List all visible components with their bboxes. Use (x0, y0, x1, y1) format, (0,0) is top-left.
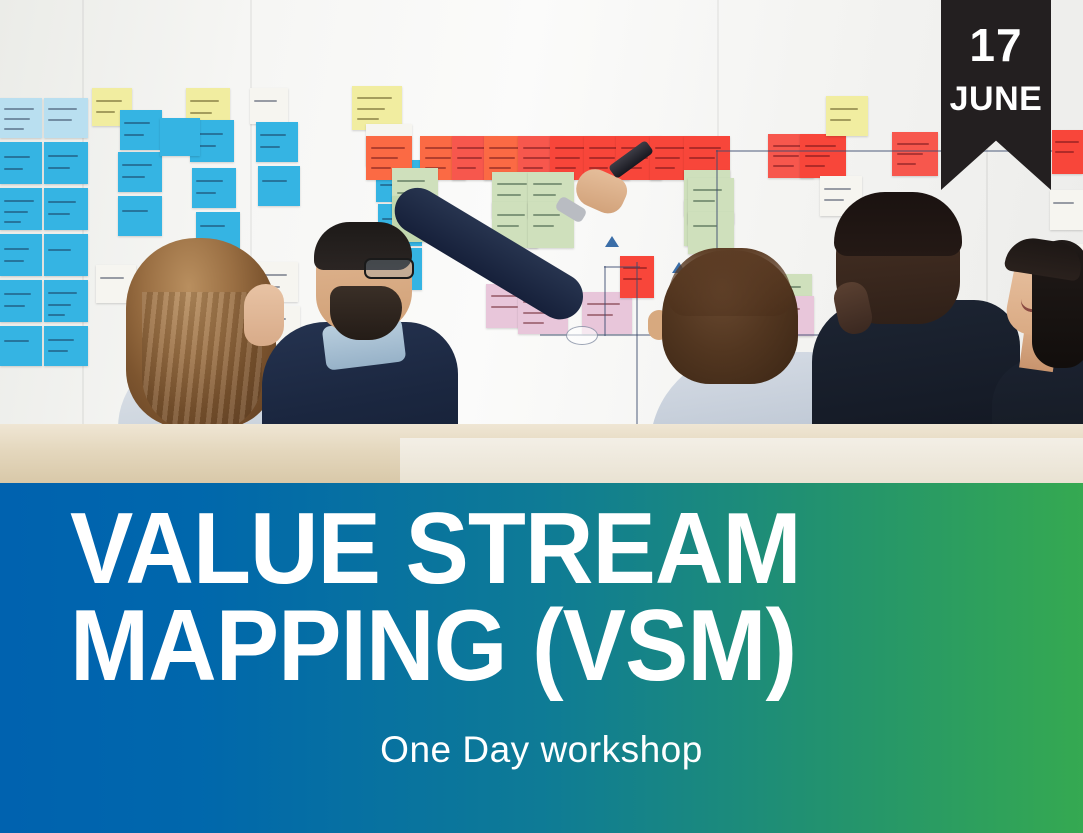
sticky-note (0, 188, 42, 230)
title-line-2: MAPPING (VSM) (70, 598, 982, 695)
sticky-note (256, 122, 298, 162)
sticky-note (192, 168, 236, 208)
ribbon-month: JUNE (941, 82, 1051, 116)
sticky-note (44, 142, 88, 184)
flow-line (604, 266, 606, 336)
sticky-note (118, 152, 162, 192)
sticky-note (258, 166, 300, 206)
sticky-note (0, 326, 42, 366)
sticky-note (0, 234, 42, 276)
sticky-note (0, 280, 42, 322)
sticky-note (0, 98, 42, 138)
page-title: VALUE STREAM MAPPING (VSM) (70, 501, 982, 695)
sticky-note (250, 88, 288, 124)
sticky-note (44, 326, 88, 366)
desk-surface (400, 438, 1083, 484)
flow-line (604, 266, 640, 268)
sticky-note (800, 134, 846, 178)
title-line-1: VALUE STREAM (70, 493, 801, 605)
sticky-note (1052, 130, 1083, 174)
sticky-note (1050, 190, 1083, 230)
sticky-note (0, 142, 42, 184)
flow-line (716, 150, 1052, 152)
title-banner: VALUE STREAM MAPPING (VSM) One Day works… (0, 483, 1083, 833)
page-subtitle: One Day workshop (0, 729, 1083, 771)
sticky-note (892, 132, 938, 176)
sticky-note (44, 280, 88, 322)
ribbon-day: 17 (941, 22, 1051, 68)
flow-node-icon (566, 326, 598, 345)
sticky-note (826, 96, 868, 136)
sticky-note (160, 118, 200, 156)
sticky-note (120, 110, 162, 150)
flow-line (636, 262, 638, 428)
workshop-photo (0, 0, 1083, 484)
arrow-up-icon (605, 236, 619, 247)
sticky-note (118, 196, 162, 236)
sticky-note (44, 98, 88, 138)
event-poster: 17 JUNE VALUE STREAM MAPPING (VSM) One D… (0, 0, 1083, 833)
sticky-note (44, 188, 88, 230)
sticky-note (44, 234, 88, 276)
